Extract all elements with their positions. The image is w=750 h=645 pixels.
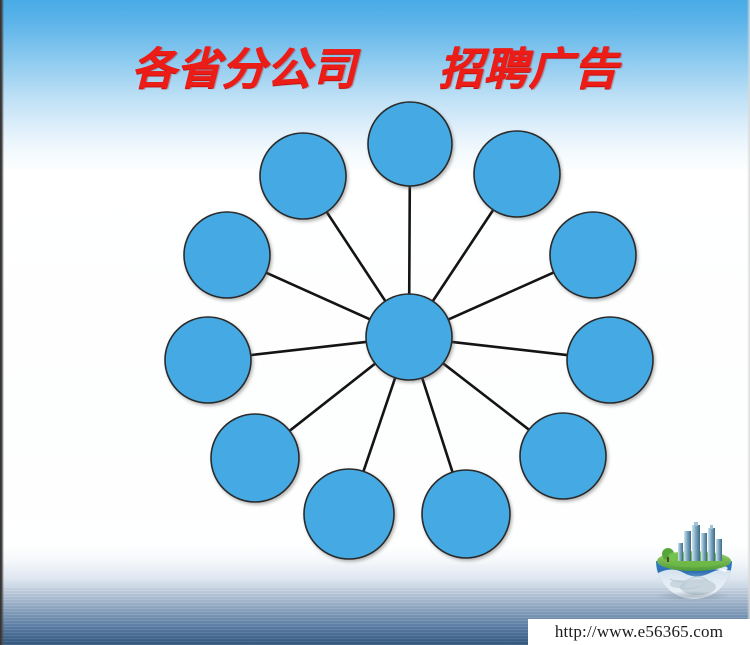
hub-node-group xyxy=(366,294,452,380)
node-circle-3[interactable] xyxy=(550,212,636,298)
watermark-url: http://www.e56365.com xyxy=(528,619,750,645)
hub-and-spoke-diagram xyxy=(0,0,750,645)
node-circle-11[interactable] xyxy=(260,133,346,219)
node-circle-10[interactable] xyxy=(184,212,270,298)
spoke-line-4 xyxy=(451,342,569,355)
spoke-line-1 xyxy=(409,185,410,295)
spoke-line-2 xyxy=(432,209,494,302)
node-circle-9[interactable] xyxy=(165,317,251,403)
node-circle-4[interactable] xyxy=(567,317,653,403)
spoke-line-6 xyxy=(422,377,453,473)
spoke-line-8 xyxy=(289,363,376,431)
node-circle-7[interactable] xyxy=(304,469,394,559)
globe-city-logo xyxy=(648,521,740,605)
node-circle-6[interactable] xyxy=(422,470,510,558)
spoke-line-3 xyxy=(447,272,554,320)
node-circle-5[interactable] xyxy=(520,413,606,499)
spoke-line-11 xyxy=(326,211,386,302)
spoke-line-9 xyxy=(250,342,368,355)
spoke-line-7 xyxy=(363,377,395,473)
node-circle-1[interactable] xyxy=(368,102,452,186)
slide-canvas: 各省分公司 招聘广告 xyxy=(0,0,750,645)
hub-circle[interactable] xyxy=(366,294,452,380)
node-circle-8[interactable] xyxy=(211,414,299,502)
watermark-url-text: http://www.e56365.com xyxy=(555,622,723,642)
spoke-line-5 xyxy=(442,363,530,431)
globe-shadow xyxy=(656,591,730,601)
node-circle-2[interactable] xyxy=(474,131,560,217)
spoke-line-10 xyxy=(265,272,370,319)
